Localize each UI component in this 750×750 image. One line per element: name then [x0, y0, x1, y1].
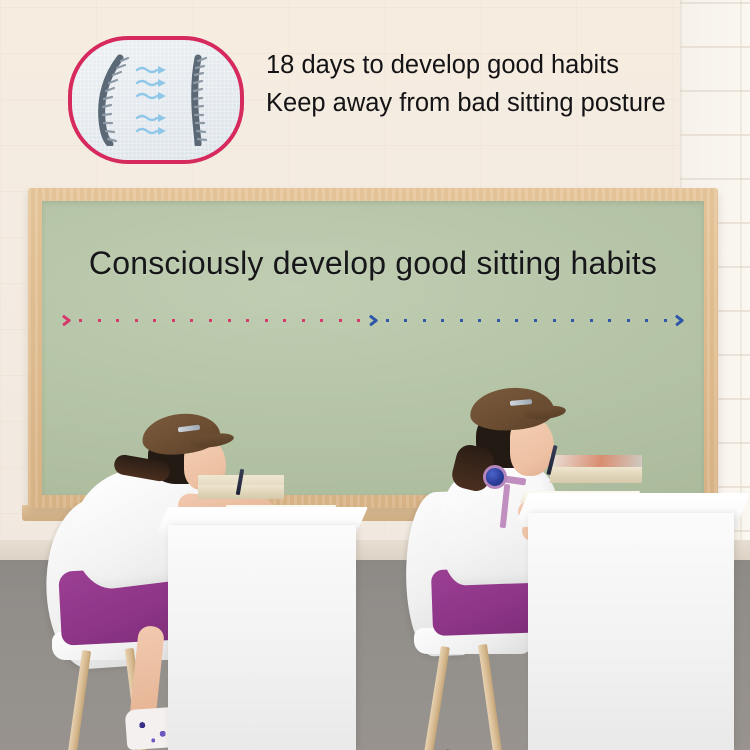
headline-line-1: 18 days to develop good habits	[266, 46, 736, 84]
divider-dot	[664, 319, 667, 322]
divider-dot	[228, 319, 231, 322]
book-cover-right	[550, 455, 642, 467]
posture-corrector-device	[486, 468, 504, 486]
chair-leg-right-back	[478, 644, 503, 750]
divider-dot	[283, 319, 286, 322]
chair-leg-right-front	[423, 646, 450, 750]
divider-dot	[627, 319, 630, 322]
divider-dot	[478, 319, 481, 322]
desk-front-left	[168, 525, 356, 750]
divider-dot	[79, 319, 82, 322]
desk-left	[168, 503, 368, 750]
divider-dot	[404, 319, 407, 322]
divider-dot	[339, 319, 342, 322]
blackboard-title: Consciously develop good sitting habits	[42, 245, 704, 282]
book-stack-right	[550, 467, 642, 483]
divider-dot	[98, 319, 101, 322]
divider-dot	[302, 319, 305, 322]
divider-dot	[571, 319, 574, 322]
desk-front-right	[528, 513, 734, 750]
desk-right	[528, 487, 750, 750]
divider-dot	[423, 319, 426, 322]
divider-dot	[590, 319, 593, 322]
divider-dot	[246, 319, 249, 322]
chevron-right-icon-left	[60, 314, 73, 327]
divider-dot	[265, 319, 268, 322]
spine-comparison-badge	[68, 36, 244, 164]
divider-dot	[116, 319, 119, 322]
divider-dot	[497, 319, 500, 322]
divider-dot	[386, 319, 389, 322]
divider-dot	[608, 319, 611, 322]
chevron-right-icon-middle	[367, 314, 380, 327]
divider-dot	[357, 319, 360, 322]
chevron-right-icon-right	[673, 314, 686, 327]
divider-dot	[153, 319, 156, 322]
dot-run-right	[380, 319, 674, 322]
divider-dot	[209, 319, 212, 322]
divider-dot	[553, 319, 556, 322]
headline-block: 18 days to develop good habits Keep away…	[266, 46, 736, 122]
divider-dot	[172, 319, 175, 322]
product-image-scene: Consciously develop good sitting habits	[0, 0, 750, 750]
divider-dot	[534, 319, 537, 322]
dot-run-left	[73, 319, 367, 322]
divider-dot	[190, 319, 193, 322]
divider-dot	[515, 319, 518, 322]
divider-dot	[441, 319, 444, 322]
divider-dot	[645, 319, 648, 322]
divider-dot	[320, 319, 323, 322]
headline-line-2: Keep away from bad sitting posture	[266, 84, 736, 122]
curved-spine-icon	[90, 54, 134, 146]
improvement-arrows-icon	[134, 62, 176, 140]
divider-dot	[135, 319, 138, 322]
straight-spine-icon	[176, 54, 220, 146]
divider-dot	[460, 319, 463, 322]
dotted-arrow-divider	[60, 313, 686, 327]
